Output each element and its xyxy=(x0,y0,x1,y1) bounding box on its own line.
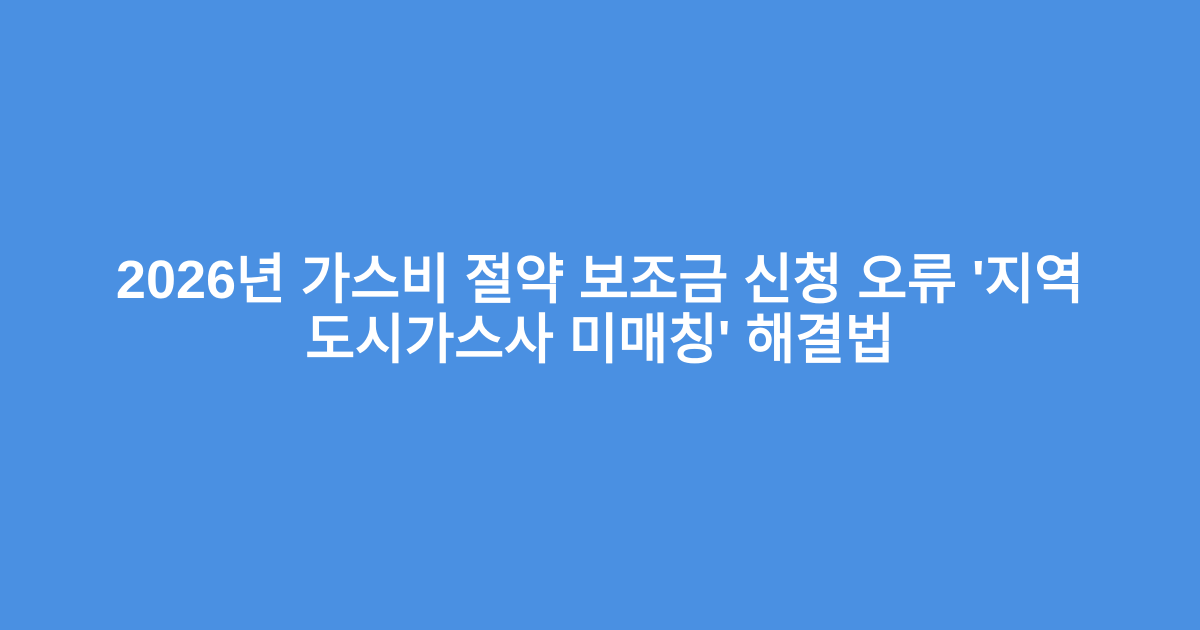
title-block: 2026년 가스비 절약 보조금 신청 오류 '지역 도시가스사 미매칭' 해결… xyxy=(100,250,1100,370)
page-title: 2026년 가스비 절약 보조금 신청 오류 '지역 도시가스사 미매칭' 해결… xyxy=(100,250,1100,370)
og-card-canvas: 2026년 가스비 절약 보조금 신청 오류 '지역 도시가스사 미매칭' 해결… xyxy=(0,0,1200,630)
